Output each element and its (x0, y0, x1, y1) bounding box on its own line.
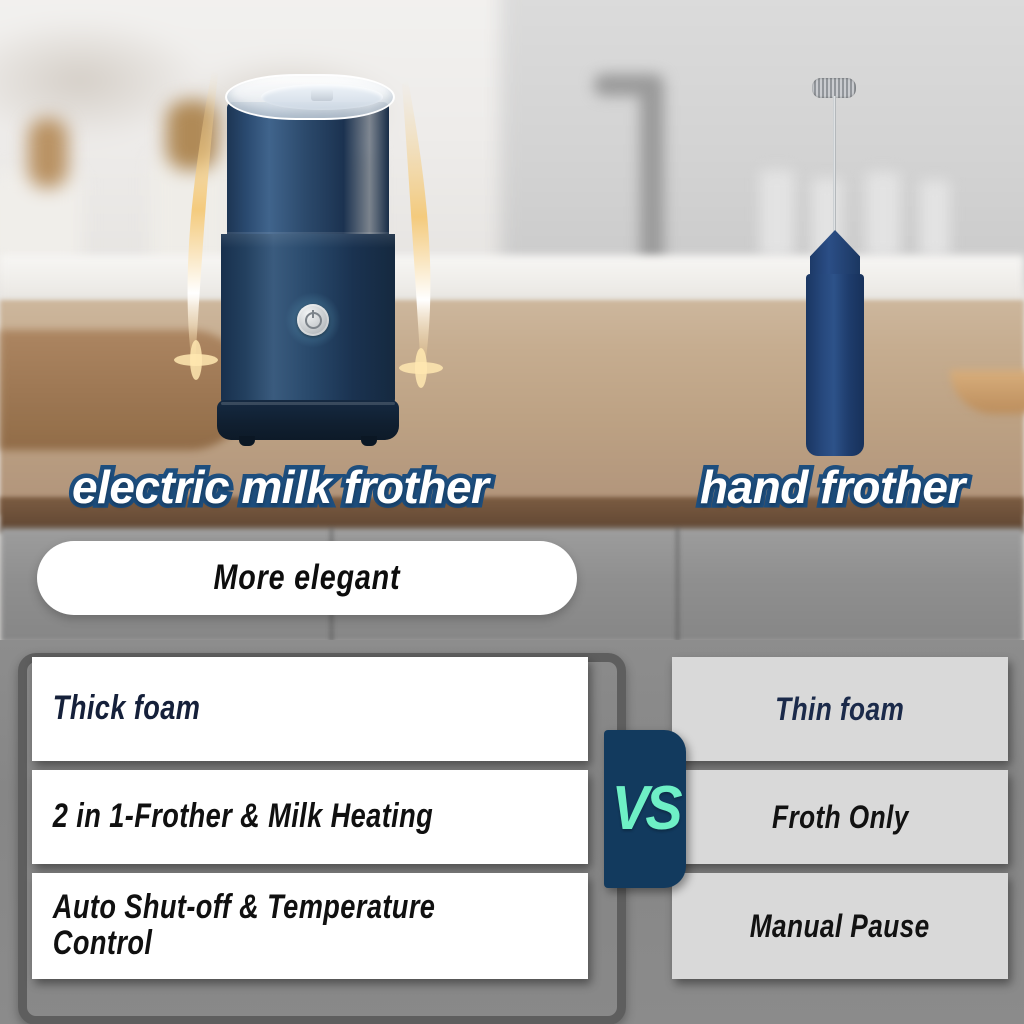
feature-text-left: Thick foam (32, 691, 200, 727)
blurred-glassware (760, 170, 794, 258)
power-button[interactable] (297, 304, 329, 336)
power-symbol-icon (305, 312, 322, 329)
whisk-shaft (833, 96, 836, 236)
electric-frother-label-text: electric milk frother (72, 461, 488, 513)
frother-base-highlight (221, 402, 395, 405)
feature-text-left: 2 in 1-Frother & Milk Heating (32, 799, 433, 835)
electric-milk-frother-product (213, 74, 403, 444)
hand-frother-label: hand frother (700, 460, 965, 514)
feature-row-left: Thick foam (32, 657, 588, 761)
frother-base (217, 400, 399, 440)
feature-text-right: Froth Only (772, 799, 909, 836)
frother-foot (239, 436, 255, 446)
frother-upper-body (227, 102, 389, 242)
feature-text-right: Manual Pause (750, 908, 930, 945)
hand-frother-neck (810, 230, 860, 278)
hand-frother-label-text: hand frother (700, 461, 965, 513)
hand-frother-handle (806, 274, 864, 456)
more-elegant-text: More elegant (214, 558, 401, 598)
frother-lid (225, 74, 395, 120)
vs-badge: VS (604, 730, 686, 888)
blurred-glassware (866, 172, 900, 258)
feature-row-right: Froth Only (672, 770, 1008, 864)
feature-row-left: 2 in 1-Frother & Milk Heating (32, 770, 588, 864)
cabinet-seam (676, 528, 679, 640)
infographic-root: electric milk frother hand frother More … (0, 0, 1024, 1024)
vs-badge-text: VS (611, 778, 678, 840)
feature-row-left: Auto Shut-off & Temperature Control (32, 873, 588, 979)
whisk-coil-head-icon (812, 78, 856, 98)
blurred-faucet (640, 80, 664, 270)
feature-row-right: Thin foam (672, 657, 1008, 761)
more-elegant-badge: More elegant (37, 541, 577, 615)
blurred-glassware (920, 180, 950, 258)
feature-text-left: Auto Shut-off & Temperature Control (32, 890, 477, 961)
hand-frother-product (800, 78, 870, 438)
feature-row-right: Manual Pause (672, 873, 1008, 979)
product-photo-area: electric milk frother hand frother More … (0, 0, 1024, 640)
feature-text-right: Thin foam (775, 691, 904, 728)
electric-frother-label: electric milk frother (72, 460, 488, 514)
frother-foot (361, 436, 377, 446)
